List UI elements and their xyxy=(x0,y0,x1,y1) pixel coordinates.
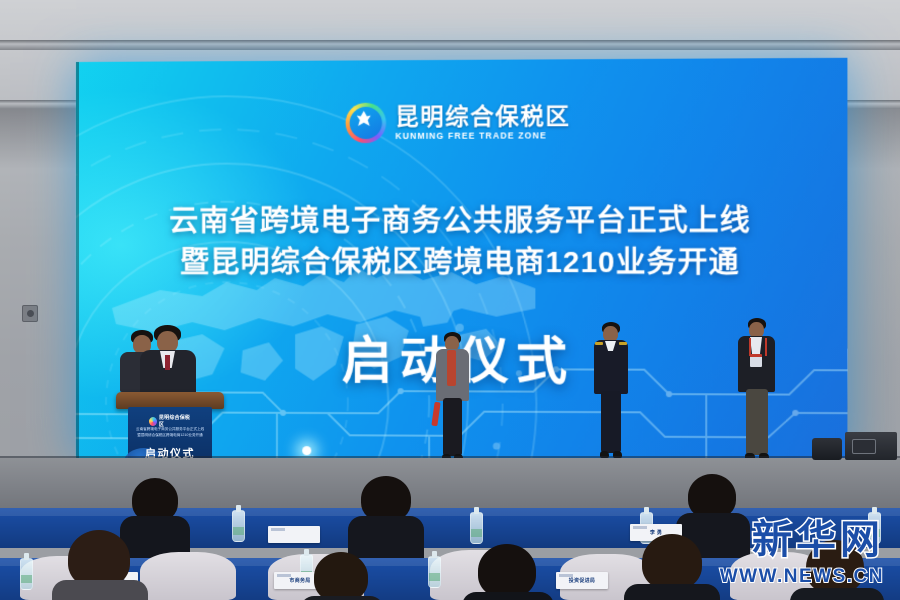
badge-icon xyxy=(750,354,762,367)
body xyxy=(790,588,884,600)
screen-logo: 昆明综合保税区 KUNMING FREE TRADE ZONE xyxy=(346,102,571,143)
podium-logo: 昆明综合保税区 xyxy=(149,414,191,428)
red-prop xyxy=(431,402,440,427)
screen-title-line-2: 暨昆明综合保税区跨境电商1210业务开通 xyxy=(76,243,847,285)
watermark: 新华网 WWW.NEWS.CN xyxy=(720,520,884,586)
tie xyxy=(165,355,170,370)
stage-guest-woman xyxy=(432,332,472,462)
body xyxy=(300,596,384,600)
body xyxy=(348,516,424,562)
photo-canvas: 昆明综合保税区 KUNMING FREE TRADE ZONE 云南省跨境电子商… xyxy=(0,0,900,600)
epaulette-right xyxy=(619,342,627,345)
screen-logo-en: KUNMING FREE TRADE ZONE xyxy=(395,131,570,140)
glow-dot-icon xyxy=(302,446,311,455)
stage-guest-man-badge xyxy=(735,318,779,464)
podium-banner-line-2: 暨昆明综合保税区跨境电商1210业务开通 xyxy=(136,433,204,439)
head xyxy=(478,544,536,598)
screen-title-line-1: 云南省跨境电子商务公共服务平台正式上线 xyxy=(76,201,847,243)
kunming-ftz-emblem-icon xyxy=(346,103,387,143)
podium-banner-line-1: 云南省跨境电子商务公共服务平台正式上线 xyxy=(136,427,204,433)
legs xyxy=(746,389,768,455)
legs xyxy=(601,391,621,453)
wall-fixture-icon xyxy=(22,305,38,322)
water-bottle xyxy=(232,510,245,542)
av-equipment-case xyxy=(845,432,897,460)
screen-logo-cn: 昆明综合保税区 xyxy=(395,105,570,129)
placard-tag xyxy=(277,574,291,577)
name-placard: 投资促进局 xyxy=(556,572,608,589)
speaker-at-podium xyxy=(138,325,198,395)
screen-title: 云南省跨境电子商务公共服务平台正式上线 暨昆明综合保税区跨境电商1210业务开通 xyxy=(76,201,847,285)
av-equipment-box xyxy=(812,438,842,460)
podium-banner-lines: 云南省跨境电子商务公共服务平台正式上线 暨昆明综合保税区跨境电商1210业务开通 xyxy=(136,427,204,438)
water-bottle xyxy=(20,558,33,590)
water-bottle xyxy=(428,556,441,588)
placard-tag xyxy=(559,574,573,577)
watermark-cn: 新华网 xyxy=(752,518,884,562)
body xyxy=(624,584,720,600)
kunming-ftz-emblem-icon xyxy=(149,417,157,426)
led-screen-left-edge xyxy=(76,62,79,460)
podium-logo-cn: 昆明综合保税区 xyxy=(159,414,191,428)
epaulette-left xyxy=(595,342,603,345)
ceiling-beam-upper xyxy=(0,40,900,50)
water-bottle xyxy=(470,512,483,544)
placard-tag xyxy=(633,526,647,529)
head xyxy=(642,534,702,590)
body xyxy=(52,580,148,600)
head xyxy=(314,552,368,600)
chair-cover xyxy=(140,552,236,600)
body xyxy=(462,592,554,600)
placard-tag xyxy=(271,528,285,531)
name-placard xyxy=(268,526,320,543)
placard-name: 投资促进局 xyxy=(556,577,608,584)
legs xyxy=(443,398,462,456)
stage-guest-officer xyxy=(590,322,632,462)
watermark-en: WWW.NEWS.CN xyxy=(720,567,884,586)
red-scarf xyxy=(447,350,456,386)
